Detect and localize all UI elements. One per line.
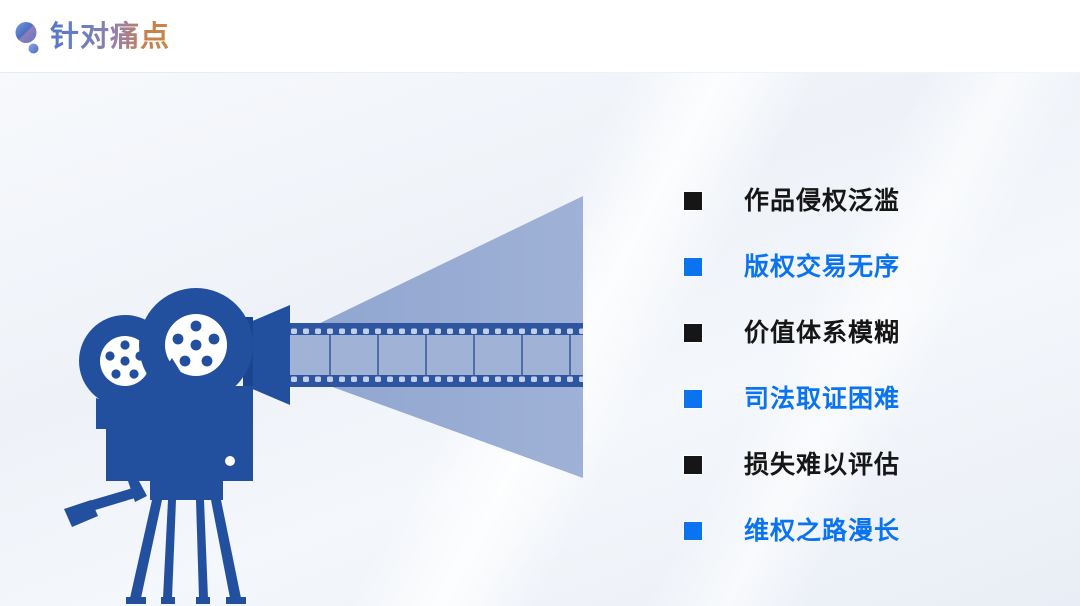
- square-bullet-icon: [684, 258, 702, 276]
- page-title: 针对痛点: [50, 16, 170, 58]
- bullet-item-6[interactable]: 维权之路漫长: [660, 498, 1060, 564]
- bullet-item-2[interactable]: 版权交易无序: [660, 234, 1060, 300]
- hand-crank: [64, 481, 147, 527]
- square-bullet-icon: [684, 324, 702, 342]
- slide-header: 针对痛点: [0, 0, 1080, 73]
- bullet-label: 损失难以评估: [744, 450, 900, 480]
- bullet-item-4[interactable]: 司法取证困难: [660, 366, 1060, 432]
- bullet-label: 维权之路漫长: [744, 516, 900, 546]
- bullet-item-5[interactable]: 损失难以评估: [660, 432, 1060, 498]
- bullet-item-3[interactable]: 价值体系模糊: [660, 300, 1060, 366]
- film-strip-sprockets-top: [283, 323, 583, 335]
- header-divider: [0, 72, 1080, 73]
- bullet-label: 价值体系模糊: [744, 318, 900, 348]
- tripod: [126, 481, 246, 604]
- square-bullet-icon: [684, 390, 702, 408]
- slide-canvas: 针对痛点: [0, 0, 1080, 606]
- bullet-label: 版权交易无序: [744, 252, 900, 282]
- film-projector-illustration: [0, 73, 640, 606]
- speech-bubble-dot-icon: [14, 21, 44, 55]
- bullet-item-1[interactable]: 作品侵权泛滥: [660, 168, 1060, 234]
- film-strip-sprockets-bottom: [283, 375, 583, 387]
- camera-body: [106, 386, 253, 481]
- square-bullet-icon: [684, 522, 702, 540]
- slide-body: 作品侵权泛滥 版权交易无序 价值体系模糊 司法取证困难 损失难以评估 维权之路漫: [0, 73, 1080, 606]
- bullet-list: 作品侵权泛滥 版权交易无序 价值体系模糊 司法取证困难 损失难以评估 维权之路漫: [660, 168, 1060, 564]
- bullet-label: 司法取证困难: [744, 384, 900, 414]
- bullet-label: 作品侵权泛滥: [744, 186, 900, 216]
- square-bullet-icon: [684, 456, 702, 474]
- camera-body-knob: [225, 456, 235, 466]
- square-bullet-icon: [684, 192, 702, 210]
